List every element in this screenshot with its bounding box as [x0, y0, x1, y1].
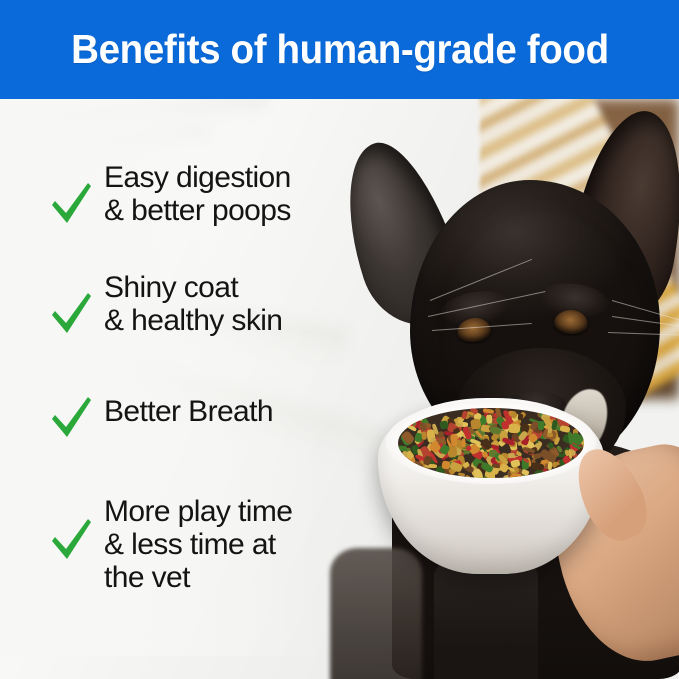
benefit-label: Shiny coat & healthy skin [104, 271, 282, 337]
header-banner: Benefits of human-grade food [0, 0, 679, 99]
check-icon [48, 177, 94, 229]
check-icon [48, 513, 94, 565]
benefit-item-more-play-time: More play time & less time at the vet [48, 495, 292, 594]
infographic-canvas: Benefits of human-grade food Easy digest… [0, 0, 679, 679]
benefit-label: Better Breath [104, 395, 273, 428]
benefit-label: Easy digestion & better poops [104, 161, 291, 227]
page-title: Benefits of human-grade food [71, 26, 609, 73]
check-icon [48, 287, 94, 339]
food-bowl-contents [398, 408, 584, 478]
benefit-item-easy-digestion: Easy digestion & better poops [48, 161, 291, 229]
benefit-label: More play time & less time at the vet [104, 495, 292, 594]
benefit-item-shiny-coat: Shiny coat & healthy skin [48, 271, 282, 339]
dog-leg-right [434, 556, 538, 679]
benefit-item-better-breath: Better Breath [48, 395, 273, 443]
benefits-list: Easy digestion & better poops Shiny coat… [0, 99, 360, 679]
check-icon [48, 391, 94, 443]
